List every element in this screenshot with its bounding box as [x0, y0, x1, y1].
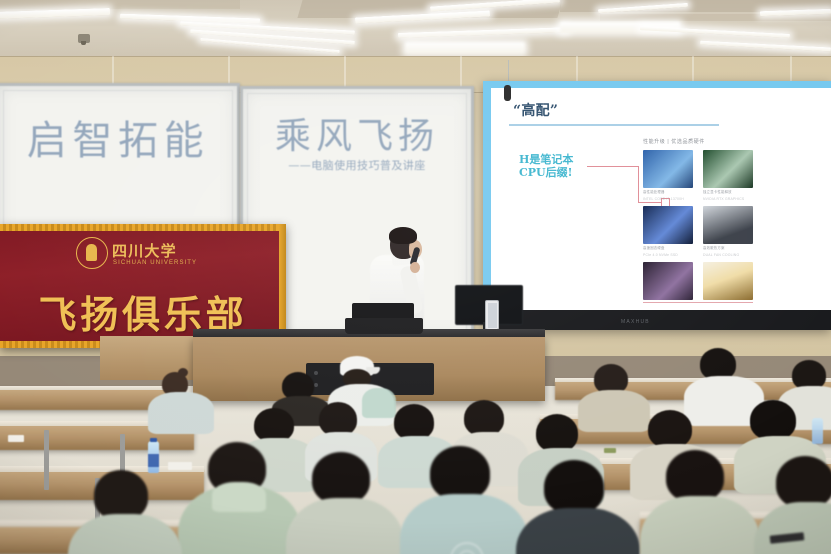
- desk-post: [44, 430, 49, 490]
- slide-item: 独立显卡性能释放 NVIDIA RTX GRAPHICS: [703, 150, 753, 202]
- head: [536, 414, 578, 452]
- lecture-hall-photo: 启智拓能 乘风飞扬 ——电脑使用技巧普及讲座 “高配” H是笔记本 CPU后缀!…: [0, 0, 831, 554]
- leader-line-horizontal: [587, 166, 639, 167]
- slide-item-caption-en: DUAL FAN COOLING: [703, 253, 753, 258]
- head: [666, 450, 724, 502]
- slide-title: “高配”: [513, 100, 558, 120]
- whiteboard-right-subtitle: ——电脑使用技巧普及讲座: [243, 157, 471, 173]
- head: [776, 456, 831, 508]
- whiteboard-right-calligraphy: 乘风飞扬: [243, 107, 471, 159]
- hood: [212, 482, 266, 512]
- banner-university-name-en: SICHUAN UNIVERSITY: [113, 260, 197, 266]
- motherboard-photo: [643, 262, 693, 300]
- screen-bezel: MAXHUB: [483, 310, 831, 330]
- slide-item-caption-en: INTEL CORE i7-13700H: [643, 197, 693, 202]
- shoulders: [148, 392, 214, 434]
- slide-item: [703, 262, 753, 300]
- slide-item: 高性能处理器 INTEL CORE i7-13700H: [643, 150, 693, 202]
- hair-bun: [178, 368, 188, 377]
- slide-annotation: H是笔记本 CPU后缀!: [519, 154, 573, 180]
- head: [750, 400, 796, 440]
- smartphone-on-stand[interactable]: [485, 300, 499, 330]
- water-bottle: [812, 418, 823, 444]
- slide-item: [643, 262, 693, 300]
- slide-item-caption-en: NVIDIA RTX GRAPHICS: [703, 197, 753, 202]
- whiteboard-left-calligraphy: 启智拓能: [0, 108, 237, 166]
- slide-item-caption-en: PCIe 4.0 NVMe SSD: [643, 253, 693, 258]
- cpu-chip-photo: [643, 150, 693, 188]
- graphics-card-photo: [703, 150, 753, 188]
- ceiling-camera-icon: [78, 34, 90, 43]
- slide-title-rule: [509, 124, 719, 126]
- projection-screen[interactable]: “高配” H是笔记本 CPU后缀! 性能升级 | 优选品质硬件 高性能处理器 I…: [483, 81, 831, 330]
- microphone-icon: [504, 85, 511, 101]
- water-bottle: [148, 441, 159, 473]
- panel-indicator: [314, 383, 318, 387]
- slide-surface: “高配” H是笔记本 CPU后缀! 性能升级 | 优选品质硬件 高性能处理器 I…: [491, 88, 831, 310]
- slide-bottom-rule: [643, 302, 753, 303]
- head: [544, 460, 604, 514]
- desk-top: [0, 386, 174, 390]
- screen-brand-label: MAXHUB: [621, 319, 650, 325]
- tissue-paper: [8, 435, 24, 442]
- leader-line-vertical: [638, 166, 639, 203]
- ceiling-light: [405, 42, 525, 54]
- slide-item-caption-cn: 高效散热方案: [703, 246, 753, 251]
- speaker-hand: [410, 262, 420, 273]
- ceiling-panel: [0, 0, 240, 9]
- heatsink-photo: [703, 206, 753, 244]
- slide-grid-heading: 性能升级 | 优选品质硬件: [643, 138, 705, 145]
- panel-indicator: [314, 371, 318, 375]
- university-seal-icon: [76, 237, 108, 269]
- slide-item: 高速固态硬盘 PCIe 4.0 NVMe SSD: [643, 206, 693, 258]
- head: [94, 470, 148, 520]
- head: [648, 410, 692, 448]
- slide-item-caption-cn: 高速固态硬盘: [643, 246, 693, 251]
- gold-trophy-photo: [703, 262, 753, 300]
- ssd-module-photo: [643, 206, 693, 244]
- phone-screen: [488, 303, 497, 328]
- head: [430, 446, 490, 500]
- ceiling-panel: [600, 14, 831, 21]
- head: [319, 402, 357, 436]
- small-object: [604, 448, 616, 453]
- tissue-paper: [168, 462, 192, 470]
- wall-line: [0, 56, 831, 57]
- shoulder-stripe: [362, 388, 396, 418]
- head: [254, 408, 294, 442]
- head: [464, 400, 504, 436]
- speaker-hair: [389, 227, 417, 244]
- head: [312, 452, 370, 504]
- slide-item: 高效散热方案 DUAL FAN COOLING: [703, 206, 753, 258]
- bottle-cap: [150, 438, 157, 442]
- head: [394, 404, 434, 440]
- banner-fringe-top: [0, 224, 286, 231]
- shoulders: [578, 390, 650, 432]
- slide-item-caption-cn: 独立显卡性能释放: [703, 190, 753, 195]
- bottle-label: [148, 454, 159, 467]
- banner-university-name: 四川大学: [112, 240, 177, 261]
- laptop-base[interactable]: [345, 318, 423, 334]
- slide-item-caption-cn: 高性能处理器: [643, 190, 693, 195]
